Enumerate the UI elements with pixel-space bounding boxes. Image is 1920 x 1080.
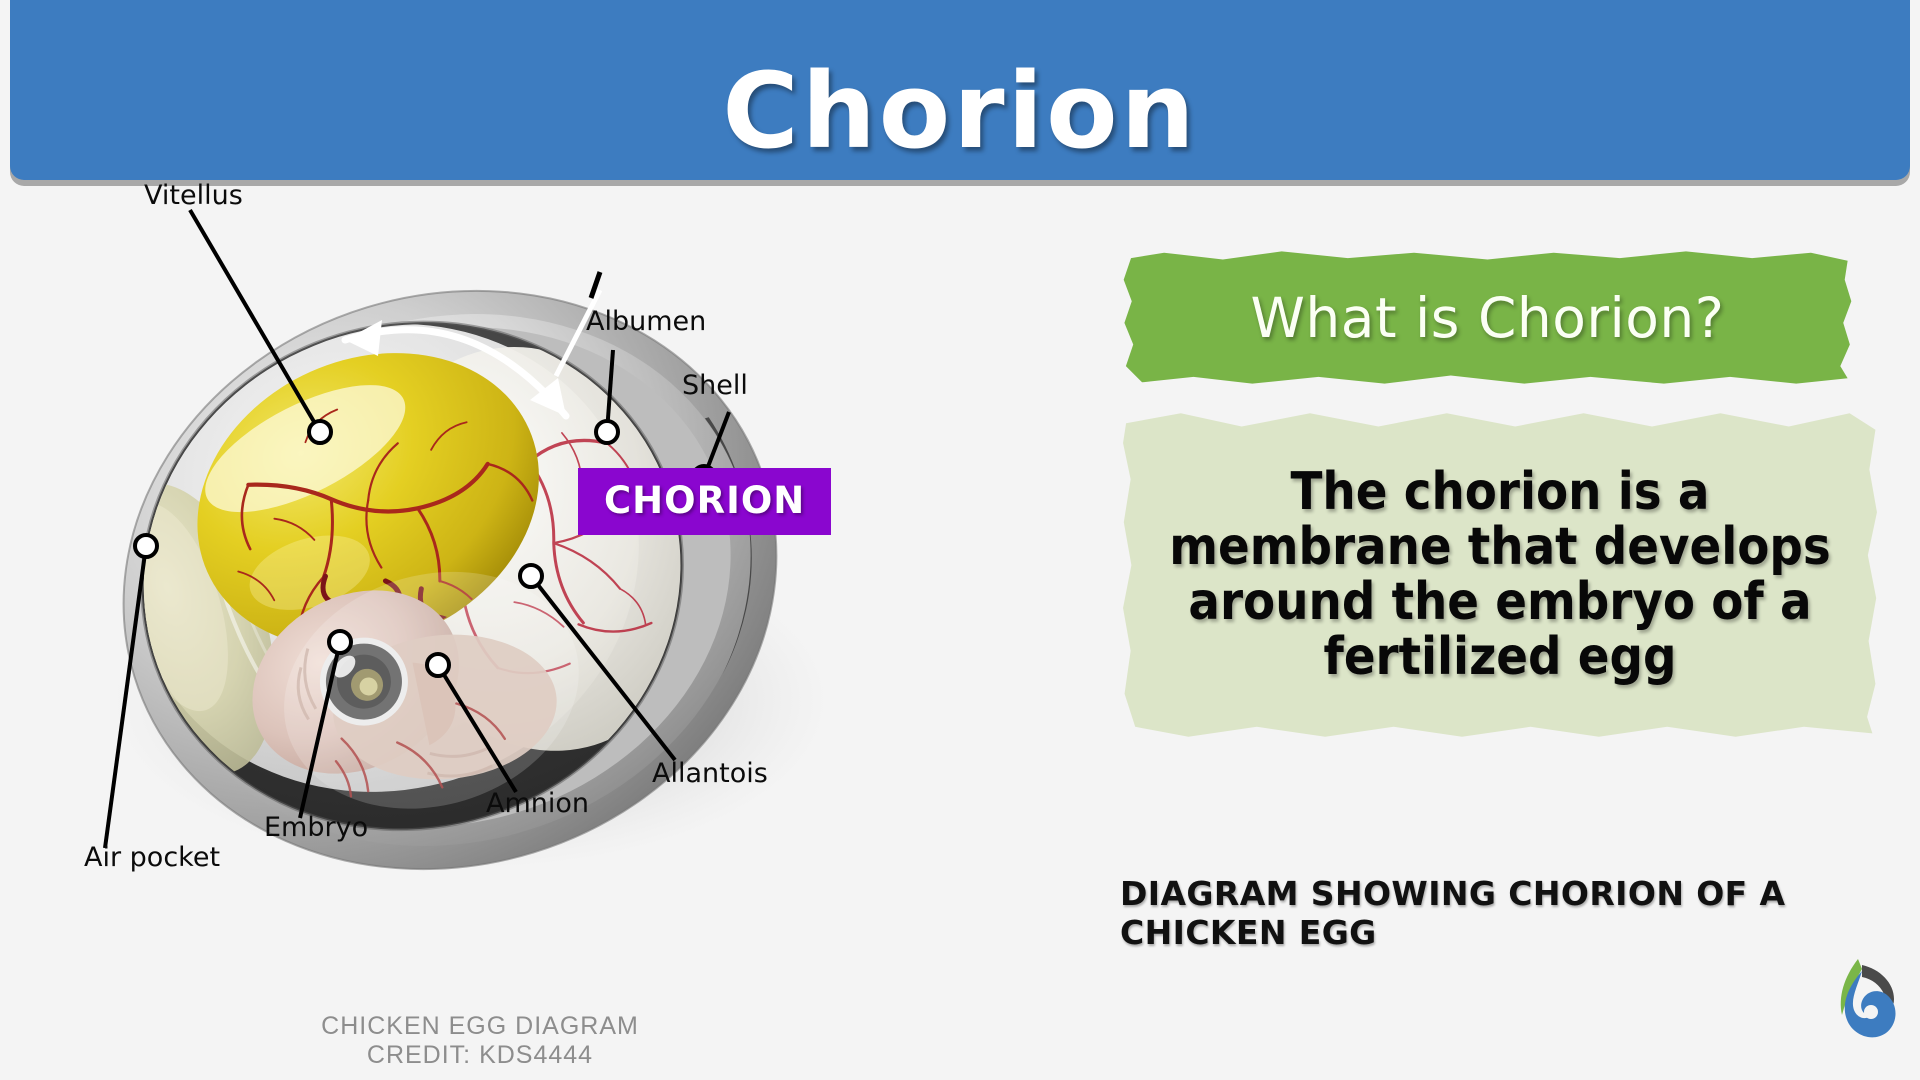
label-allantois: Allantois (652, 758, 768, 789)
definition-text: The chorion is a membrane that develops … (1150, 465, 1850, 685)
label-shell: Shell (682, 370, 748, 401)
question-text: What is Chorion? (1251, 286, 1725, 350)
chorion-callout-box: CHORION (578, 468, 831, 535)
label-albumen: Albumen (586, 306, 706, 337)
info-panel: What is Chorion? The chorion is a membra… (1120, 250, 1880, 740)
label-embryo: Embryo (264, 812, 368, 843)
label-vitellus: Vitellus (144, 180, 243, 211)
diagram-caption: DIAGRAM SHOWING CHORION OF A CHICKEN EGG (1120, 875, 1860, 953)
page-title: Chorion (722, 50, 1197, 172)
label-air-pocket: Air pocket (84, 842, 220, 873)
biology-online-logo[interactable] (1828, 955, 1902, 1047)
egg-diagram-panel: CHORION Vitellus Albumen Shell Allantois… (0, 180, 1080, 1080)
question-banner: What is Chorion? (1120, 250, 1855, 385)
header-banner: Chorion (10, 0, 1910, 180)
chorion-callout-label: CHORION (604, 479, 805, 522)
watermark-line-2: CREDIT: KDS4444 (285, 1041, 675, 1070)
credit-watermark: CHICKEN EGG DIAGRAM CREDIT: KDS4444 (285, 1012, 675, 1069)
chicken-egg-illustration (0, 180, 1080, 1080)
watermark-line-1: CHICKEN EGG DIAGRAM (285, 1012, 675, 1041)
definition-card: The chorion is a membrane that develops … (1120, 410, 1880, 740)
label-amnion: Amnion (486, 788, 589, 819)
